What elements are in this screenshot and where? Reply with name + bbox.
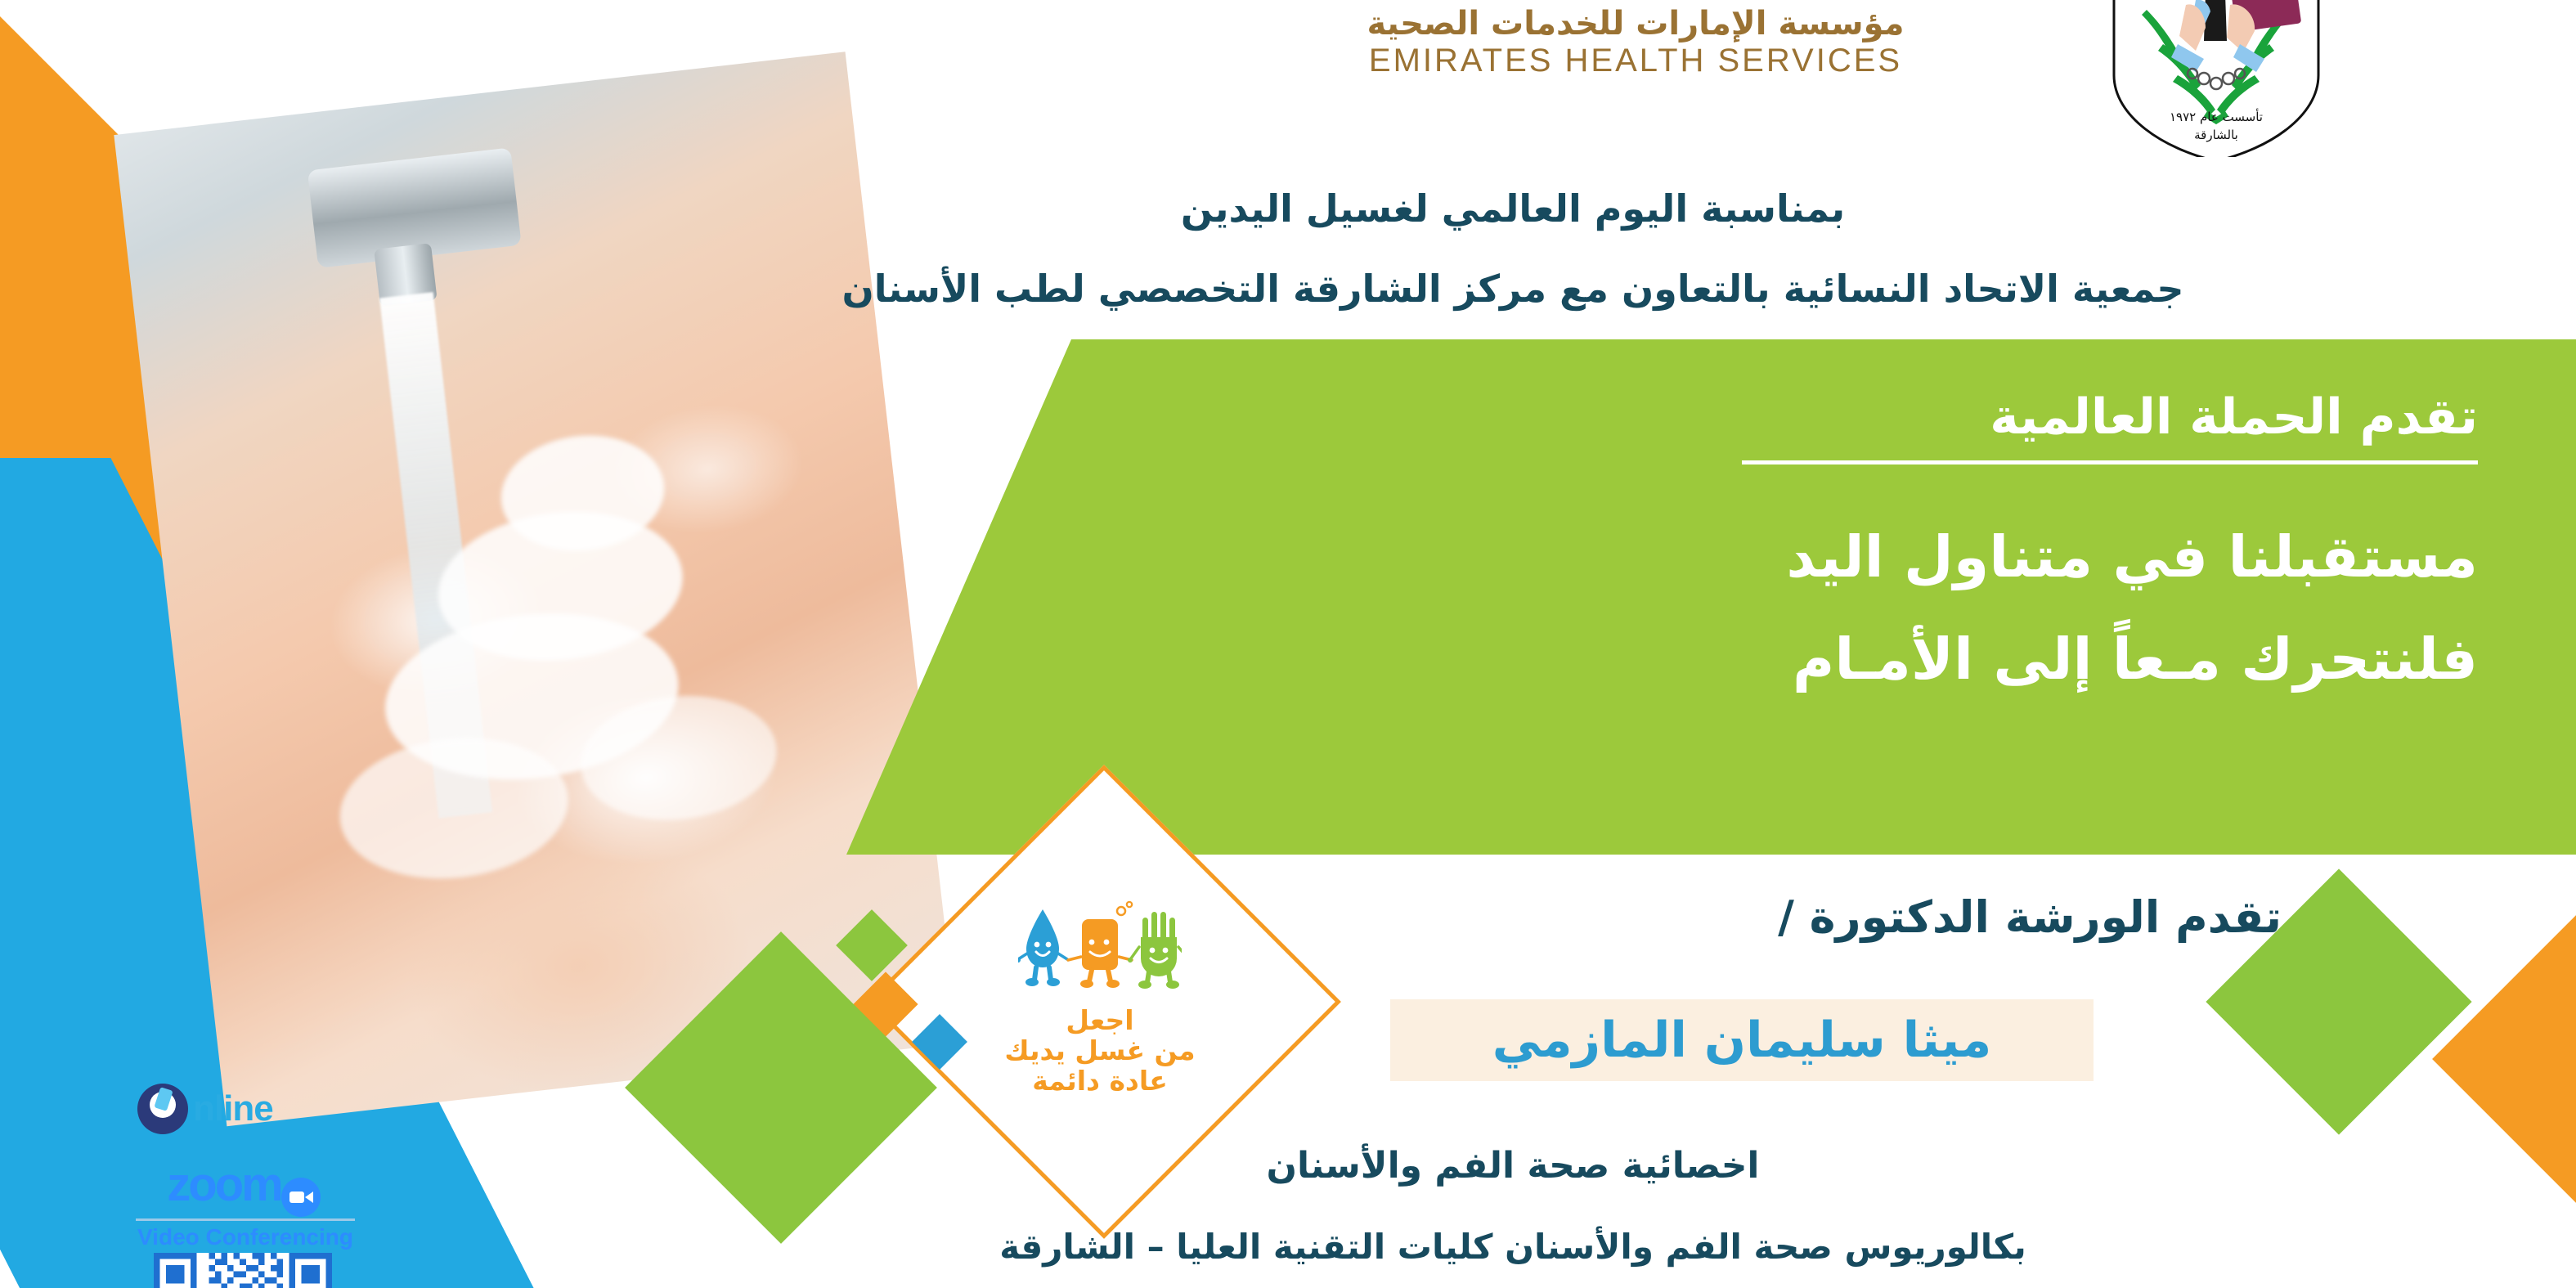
event-subheader: بمناسبة اليوم العالمي لغسيل اليدين جمعية… xyxy=(818,0,2208,343)
zoom-divider xyxy=(136,1218,355,1221)
water-drop-character-icon xyxy=(1018,909,1067,986)
zoom-sublabel: Video Conferencing xyxy=(127,1224,364,1250)
campaign-logo-text: اجعل من غسل يديك عادة دائمة xyxy=(961,1006,1239,1097)
banner-slogan-line-1: مستقبلنا في متناول اليد xyxy=(1786,523,2478,590)
banner-slogan-line-2: فلنتحرك مـعاً إلى الأمـام xyxy=(1793,626,2478,693)
campaign-logo-line-3: عادة دائمة xyxy=(961,1066,1239,1097)
qr-code[interactable] xyxy=(154,1253,332,1288)
occasion-line: بمناسبة اليوم العالمي لغسيل اليدين xyxy=(818,186,2208,231)
online-label: nline xyxy=(193,1088,273,1129)
handwashing-campaign-logo: اجعل من غسل يديك عادة دائمة xyxy=(863,761,1337,1235)
zoom-camera-icon xyxy=(281,1178,321,1217)
organizers-line: جمعية الاتحاد النسائية بالتعاون مع مركز … xyxy=(818,267,2208,311)
presenter-name: ميثا سليمان المازمي xyxy=(1492,1012,1992,1069)
banner-title: تقدم الحملة العالمية xyxy=(1990,388,2478,446)
soap-bar-character-icon xyxy=(1068,902,1132,988)
zoom-label: zoom xyxy=(167,1157,280,1212)
hand-character-icon xyxy=(1128,912,1182,989)
mascot-characters-icon xyxy=(1018,900,1182,998)
poster-canvas: تقدم الحملة العالمية مستقبلنا في متناول … xyxy=(0,0,2576,1288)
online-logo: nline xyxy=(137,1084,273,1134)
banner-divider xyxy=(1742,460,2478,464)
zoom-logo: zoom Video Conferencing xyxy=(127,1157,364,1250)
decor-square-orange-right xyxy=(2432,903,2576,1215)
campaign-logo-line-1: اجعل xyxy=(961,1006,1239,1036)
campaign-logo-line-2: من غسل يديك xyxy=(961,1036,1239,1066)
online-globe-icon xyxy=(137,1084,188,1134)
presenter-intro: تقدم الورشة الدكتورة / xyxy=(1778,891,2282,943)
presenter-name-box: ميثا سليمان المازمي xyxy=(1390,999,2094,1081)
